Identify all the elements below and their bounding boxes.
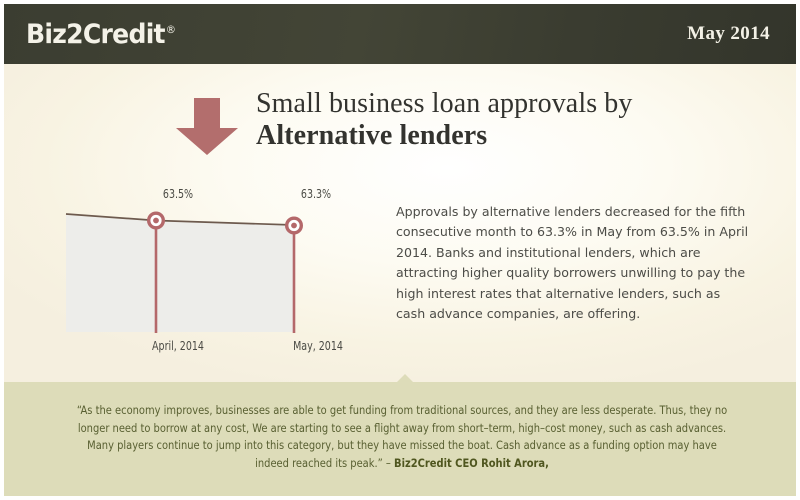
chart-category-label-april: April, 2014 [136, 339, 220, 353]
page-title-line-1: Small business loan approvals by [256, 88, 633, 120]
title-text: Small business loan approvals by Alterna… [256, 88, 633, 153]
chart-value-label-april: 63.5% [143, 187, 213, 201]
header-bar: Biz2Credit® May 2014 [4, 4, 796, 64]
quote-text: “As the economy improves, businesses are… [70, 402, 735, 472]
approval-rate-chart: 63.5% 63.3% April, 2014 May, 2014 [54, 184, 384, 364]
quote-attribution: Biz2Credit CEO Rohit Arora, [394, 456, 549, 470]
chart-canvas [54, 184, 384, 364]
page-title-line-2: Alternative lenders [256, 120, 633, 152]
chart-value-label-may: 63.3% [281, 187, 351, 201]
summary-paragraph: Approvals by alternative lenders decreas… [396, 202, 752, 324]
quote-band-notch-icon [397, 374, 413, 382]
infographic-canvas: Biz2Credit® May 2014 Small business loan… [0, 0, 800, 500]
arrow-down-icon [174, 98, 240, 156]
chart-marker-may-core [291, 223, 297, 229]
report-date: May 2014 [687, 23, 770, 45]
brand-logo-text: Biz2Credit [26, 19, 165, 50]
brand-logo: Biz2Credit® [26, 19, 175, 50]
title-block: Small business loan approvals by Alterna… [174, 88, 633, 156]
chart-marker-april-core [153, 218, 159, 224]
registered-trademark-icon: ® [166, 23, 175, 36]
chart-area-fill [66, 215, 294, 332]
chart-category-label-may: May, 2014 [276, 339, 360, 353]
